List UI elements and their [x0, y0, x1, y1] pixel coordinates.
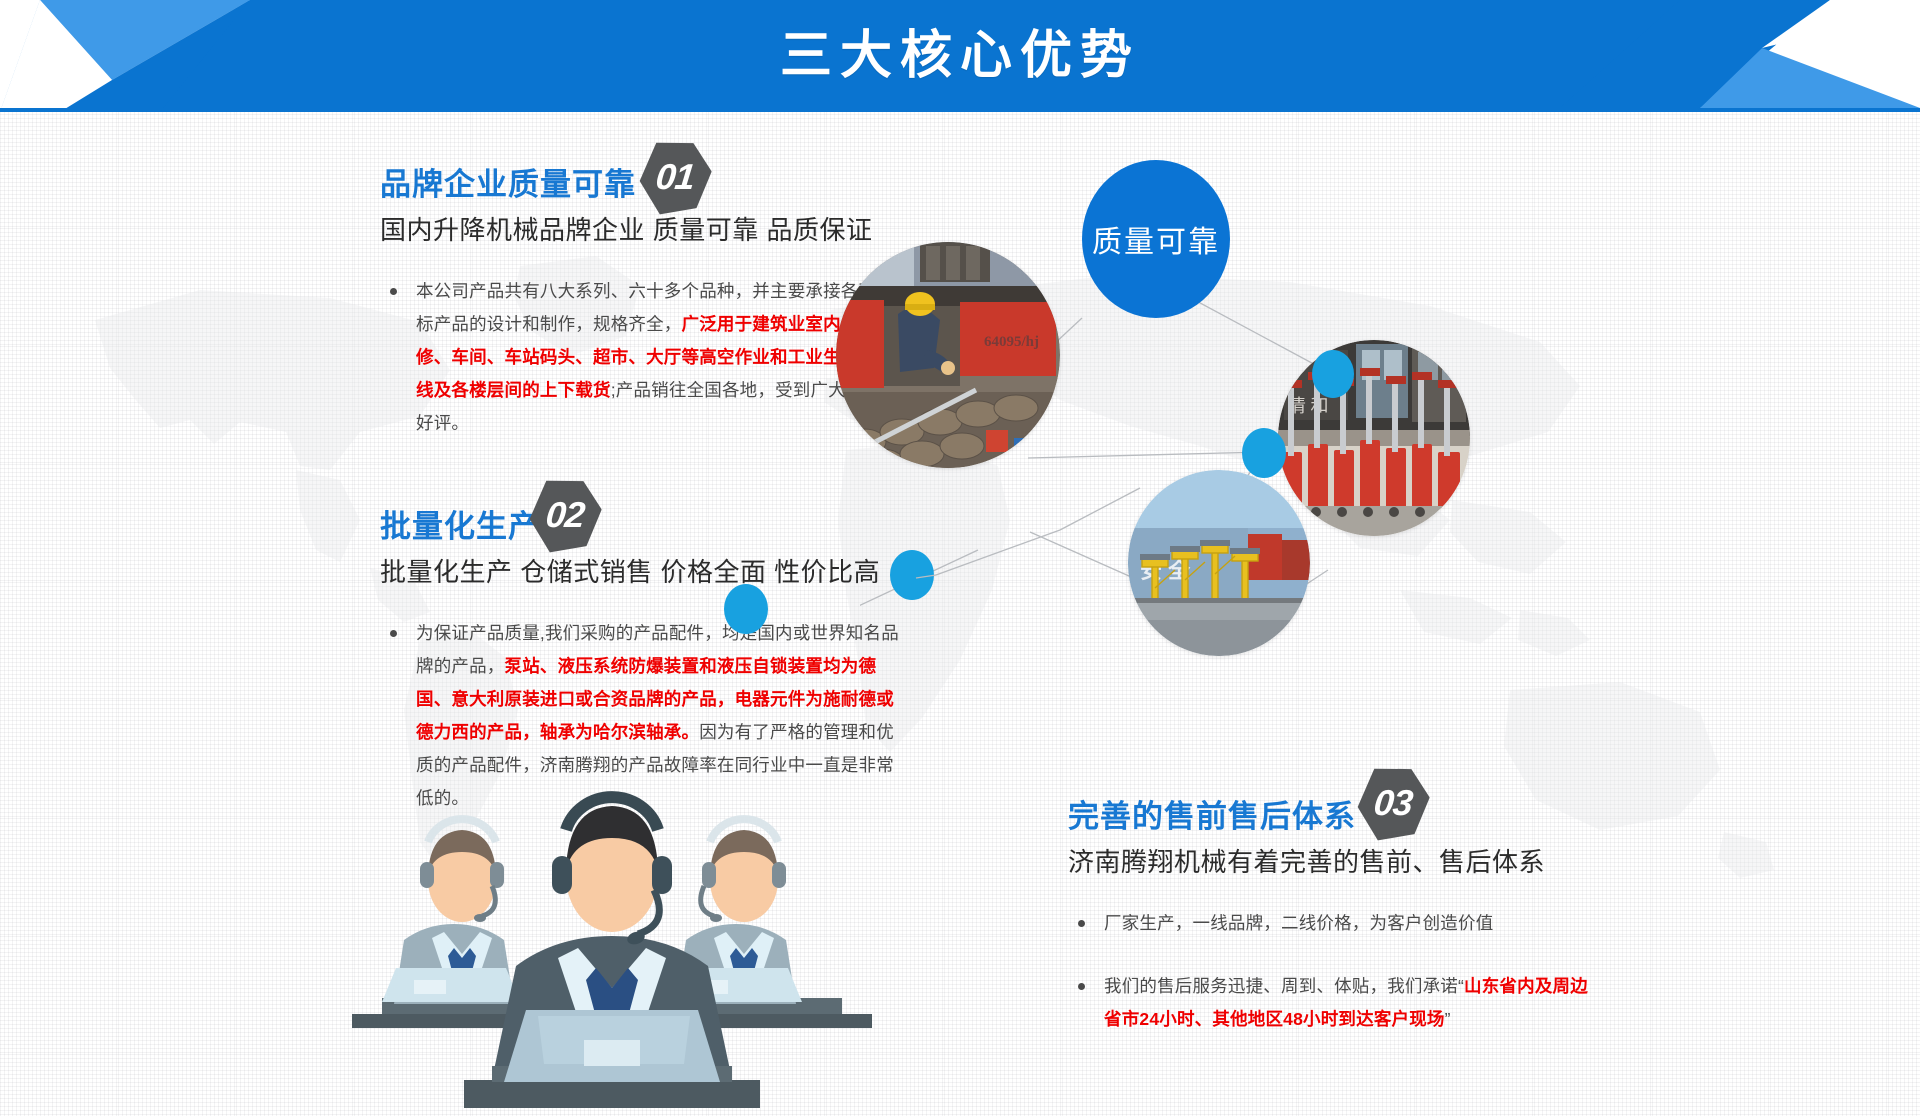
section-03-subtitle: 济南腾翔机械有着完善的售前、售后体系 [1068, 842, 1588, 879]
section-01-bullets: 本公司产品共有八大系列、六十多个品种，并主要承接各种非标产品的设计和制作，规格齐… [380, 275, 900, 440]
bullet-item: 厂家生产，一线品牌，二线价格，为客户创造价值 [1068, 907, 1588, 940]
network-node-right[interactable] [1312, 350, 1354, 398]
call-center-team-graphic [352, 790, 872, 1116]
section-02-title: 批量化生产 [380, 501, 540, 546]
section-02-header: 批量化生产 02 [380, 490, 900, 546]
photo-circle-red-lifts[interactable]: 清 和 [1278, 340, 1470, 536]
body-text: ” [1445, 1009, 1451, 1029]
section-01: 品牌企业质量可靠 01 国内升降机械品牌企业 质量可靠 品质保证 本公司产品共有… [380, 148, 900, 440]
section-02: 批量化生产 02 批量化生产 仓储式销售 价格全面 性价比高 为保证产品质量,我… [380, 490, 900, 815]
section-03-title: 完善的售前售后体系 [1068, 791, 1356, 836]
section-03-header: 完善的售前售后体系 03 [1068, 780, 1588, 836]
header-banner: 三大核心优势 [0, 0, 1920, 112]
page-title: 三大核心优势 [0, 0, 1920, 100]
section-03-bullets: 厂家生产，一线品牌，二线价格，为客户创造价值 我们的售后服务迅捷、周到、体贴，我… [1068, 907, 1588, 1036]
bullet-item: 我们的售后服务迅捷、周到、体贴，我们承诺“山东省内及周边省市24小时、其他地区4… [1068, 970, 1588, 1036]
bullet-item: 本公司产品共有八大系列、六十多个品种，并主要承接各种非标产品的设计和制作，规格齐… [380, 275, 900, 440]
section-02-bullets: 为保证产品质量,我们采购的产品配件，均是国内或世界知名品牌的产品，泵站、液压系统… [380, 617, 900, 815]
section-01-title: 品牌企业质量可靠 [380, 159, 636, 204]
svg-text:64095/hj: 64095/hj [984, 334, 1039, 350]
hub-circle-quality[interactable]: 质量可靠 [1082, 160, 1230, 318]
section-03: 完善的售前售后体系 03 济南腾翔机械有着完善的售前、售后体系 厂家生产，一线品… [1068, 780, 1588, 1036]
red-lifts-storefront-photo: 清 和 [1278, 340, 1470, 536]
bullet-item: 为保证产品质量,我们采购的产品配件，均是国内或世界知名品牌的产品，泵站、液压系统… [380, 617, 900, 815]
section-01-number-badge: 01 [636, 138, 715, 217]
section-02-subtitle: 批量化生产 仓储式销售 价格全面 性价比高 [380, 552, 900, 589]
section-01-subtitle: 国内升降机械品牌企业 质量可靠 品质保证 [380, 210, 900, 247]
network-connector-lines-left [880, 380, 1300, 640]
section-01-header: 品牌企业质量可靠 01 [380, 148, 900, 204]
network-node-left[interactable] [724, 584, 768, 634]
call-center-illustration [352, 790, 872, 1116]
hub-label: 质量可靠 [1092, 217, 1220, 261]
body-text: 我们的售后服务迅捷、周到、体贴，我们承诺“ [1104, 976, 1464, 996]
body-text: 厂家生产，一线品牌，二线价格，为客户创造价值 [1104, 913, 1493, 933]
infographic-page: 三大核心优势 品牌企业质量可靠 01 国内升降机械品牌企业 质量可靠 品质保证 … [0, 0, 1920, 1116]
